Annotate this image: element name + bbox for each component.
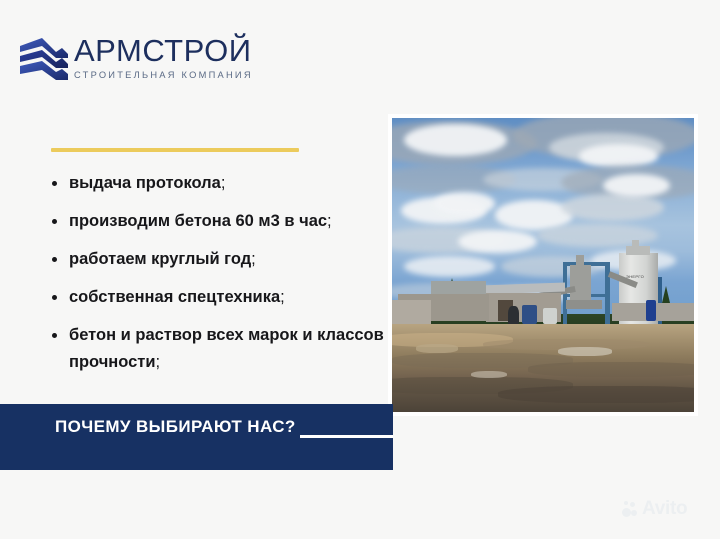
- building-blocks-icon: [16, 36, 70, 86]
- banner-rule: [300, 435, 393, 438]
- company-tagline: СТРОИТЕЛЬНАЯ КОМПАНИЯ: [74, 69, 314, 81]
- mixer-base: [566, 300, 602, 309]
- silo-vent: [632, 240, 639, 247]
- cloud: [404, 124, 507, 156]
- company-name: АРМСТРОЙ: [74, 34, 314, 68]
- list-item: производим бетона 60 м3 в час;: [48, 208, 388, 235]
- list-item: бетон и раствор всех марок и классов про…: [48, 322, 388, 376]
- benefit-tail: ;: [280, 288, 285, 306]
- benefit-tail: ;: [327, 212, 332, 230]
- ground-puddle: [471, 371, 507, 378]
- benefit-text: собственная спецтехника: [69, 288, 280, 306]
- benefit-text: бетон и раствор всех марок и классов про…: [69, 326, 384, 371]
- blue-tank: [646, 300, 657, 321]
- concrete-plant-photo: ЭНЕРГО: [392, 118, 694, 412]
- ground-streak: [528, 362, 694, 377]
- company-logo: АРМСТРОЙ СТРОИТЕЛЬНАЯ КОМПАНИЯ: [16, 34, 316, 92]
- benefits-list: выдача протокола; производим бетона 60 м…: [48, 170, 388, 387]
- benefit-text: производим бетона 60 м3 в час: [69, 212, 327, 230]
- dark-tank: [508, 306, 519, 324]
- cloud: [537, 224, 658, 248]
- cloud: [434, 192, 494, 216]
- mixer-unit: [570, 265, 591, 303]
- benefit-tail: ;: [221, 174, 226, 192]
- ground-rubble: [416, 344, 458, 353]
- benefit-text: работаем круглый год: [69, 250, 251, 268]
- cloud: [458, 230, 537, 254]
- logo-text: АРМСТРОЙ СТРОИТЕЛЬНАЯ КОМПАНИЯ: [74, 34, 314, 81]
- avito-wordmark: Avito: [642, 499, 687, 518]
- ground-puddle: [558, 347, 612, 356]
- cloud: [561, 194, 664, 220]
- blue-tank: [522, 305, 537, 324]
- promo-slide: АРМСТРОЙ СТРОИТЕЛЬНАЯ КОМПАНИЯ выдача пр…: [0, 0, 720, 539]
- photo-frame: ЭНЕРГО: [388, 114, 698, 416]
- benefit-tail: ;: [156, 353, 161, 371]
- cloud: [404, 256, 495, 277]
- benefit-text: выдача протокола: [69, 174, 221, 192]
- cloud: [603, 174, 669, 198]
- mixer-chute: [576, 255, 584, 267]
- benefit-tail: ;: [251, 250, 256, 268]
- list-item: работаем круглый год;: [48, 246, 388, 273]
- avito-watermark: Avito: [622, 495, 687, 521]
- ground-streak: [498, 386, 694, 404]
- avito-dots-icon: [622, 500, 639, 517]
- retaining-wall: [392, 300, 431, 324]
- yellow-divider: [51, 148, 299, 152]
- list-item: собственная спецтехника;: [48, 284, 388, 311]
- list-item: выдача протокола;: [48, 170, 388, 197]
- white-cabinet: [543, 308, 557, 324]
